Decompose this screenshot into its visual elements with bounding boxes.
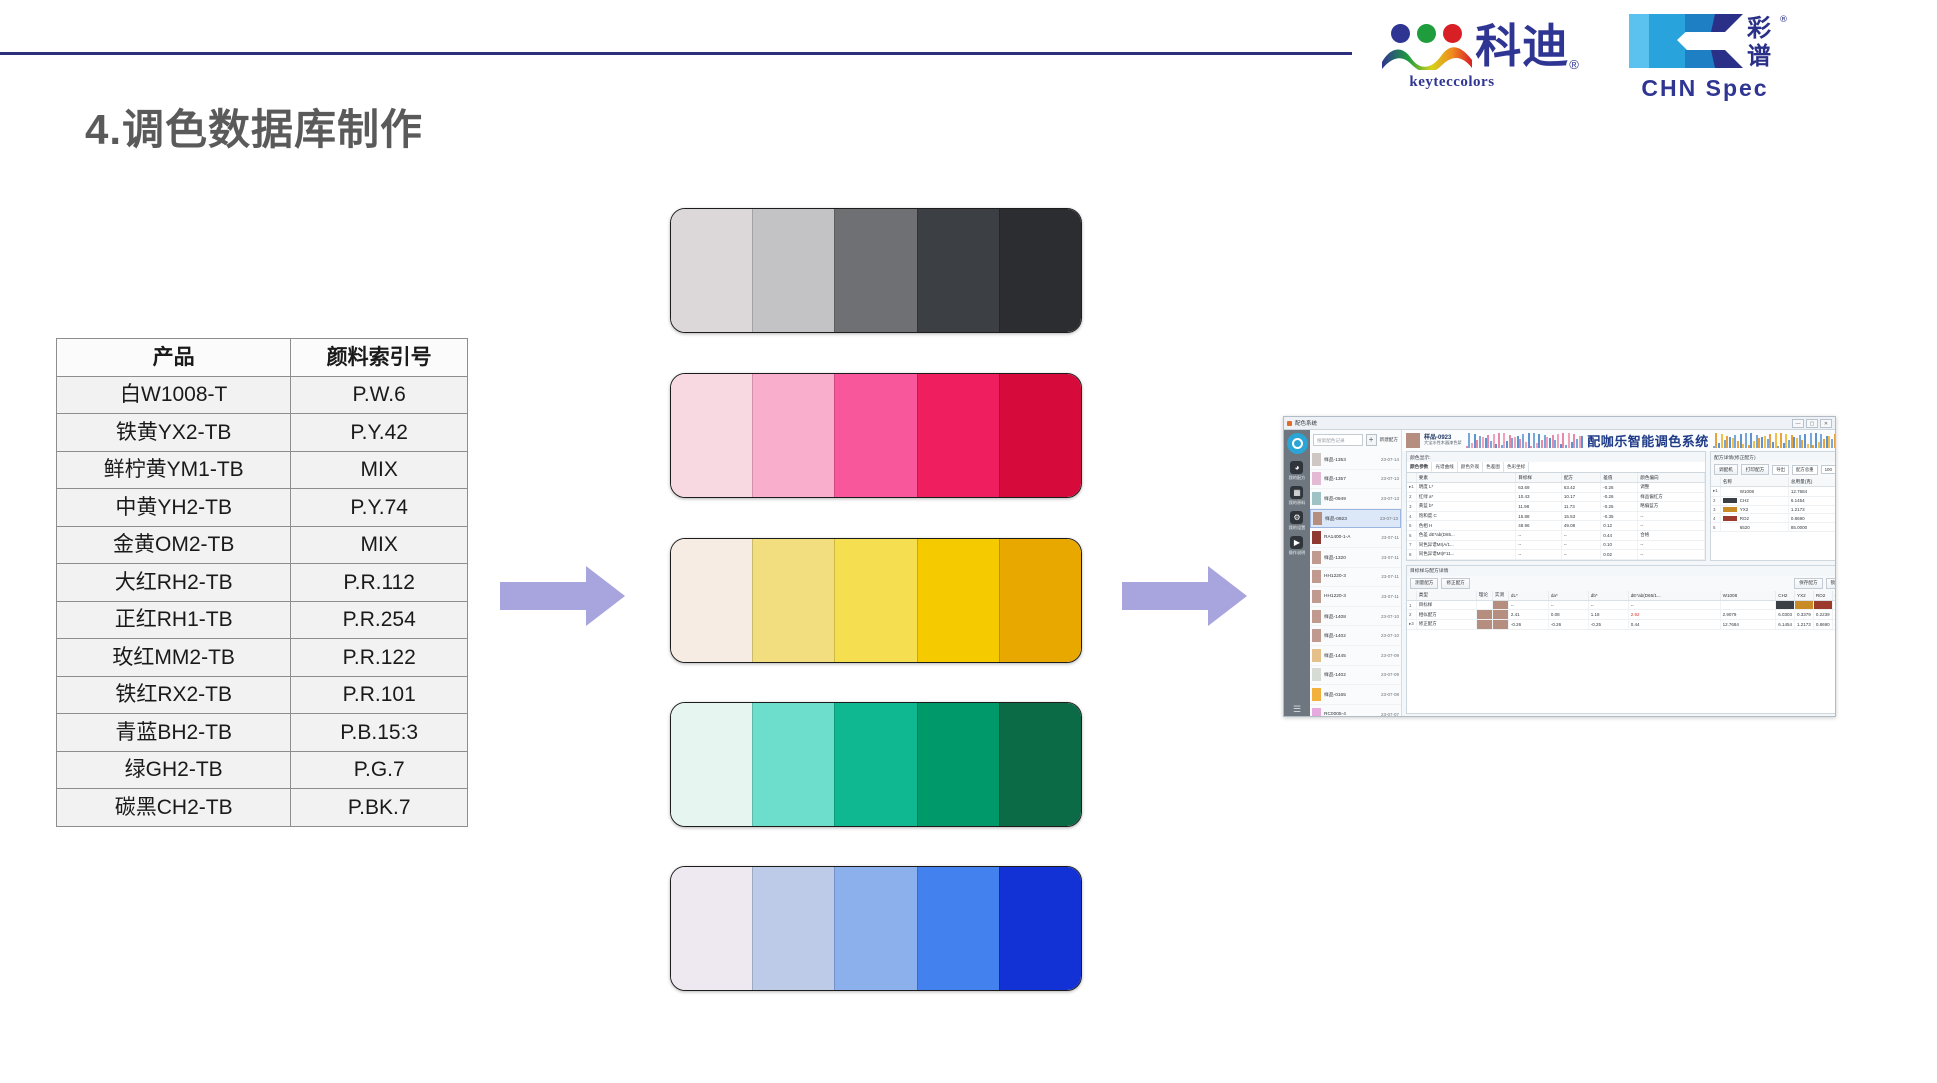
table-cell: 12.7684 — [1720, 619, 1776, 629]
table-cell: -- — [1508, 600, 1548, 610]
column-header: db* — [1588, 591, 1628, 601]
export-label[interactable]: 导出 — [1772, 465, 1789, 475]
table-row[interactable]: 4饱和度 C15.8815.53-0.35-- — [1407, 511, 1705, 521]
color-swatch — [917, 703, 999, 826]
tab-color-coords[interactable]: 色彩坐标 — [1504, 462, 1529, 472]
total-weight-select[interactable]: 配方总重 — [1792, 465, 1818, 475]
sample-color-chip — [1312, 551, 1321, 564]
column-header: 配方 — [1561, 473, 1600, 483]
list-item[interactable]: 样品-135723-07-13 — [1310, 470, 1401, 490]
table-cell: 12.7684 — [1788, 487, 1836, 497]
pigment-color-swatch — [1723, 489, 1737, 494]
sidebar-item-my-formulas[interactable]: ◕ 我的配方 — [1289, 461, 1306, 481]
color-swatch — [752, 374, 834, 497]
column-header: YX2 — [1795, 591, 1814, 601]
cell-index: MIX — [291, 526, 468, 564]
color-grid-body: ▸1明度 L*63.6963.42-0.26调整2红绿 a*10.4310.17… — [1407, 483, 1705, 560]
table-cell: 49.08 — [1561, 521, 1600, 531]
sample-color-chip — [1406, 433, 1420, 448]
tab-spectral-curve[interactable]: 光谱曲线 — [1432, 462, 1457, 472]
sample-color-chip — [1312, 492, 1321, 505]
table-row: 大红RH2-TBP.R.112 — [57, 564, 468, 602]
list-item[interactable]: HH1220-323-07-11 — [1310, 568, 1401, 588]
detail-toolbar[interactable]: 测量配方 修正配方 保存配方 锁定配方 删除配方 — [1407, 576, 1836, 591]
sample-name: 样品-1320 — [1324, 554, 1378, 561]
column-header: 6520 — [1832, 591, 1836, 601]
table-row: 正红RH1-TBP.R.254 — [57, 601, 468, 639]
yellow-plaque — [670, 538, 1082, 663]
list-item[interactable]: 样品-132023-07-11 — [1310, 548, 1401, 568]
table-row[interactable]: 2CH26.14546.1151 — [1711, 496, 1836, 505]
column-header — [1711, 477, 1720, 487]
table-cell: 明度 L* — [1416, 483, 1515, 493]
list-item[interactable]: 样品-140223-07-09 — [1310, 666, 1401, 686]
table-cell: 85.0000 — [1788, 523, 1836, 532]
table-cell: -0.26 — [1508, 619, 1548, 629]
table-cell: -- — [1516, 540, 1562, 550]
sample-date: 23-07-13 — [1380, 516, 1398, 521]
table-cell: -- — [1588, 600, 1628, 610]
window-controls[interactable]: — ▢ ✕ — [1792, 419, 1832, 428]
detail-grid: 类型理论实测dL*da*db*dE*ab(D65/1...W1008CH2YX2… — [1407, 591, 1836, 630]
cell-index: P.W.6 — [291, 376, 468, 414]
sample-name: 样品-0923 — [1325, 515, 1377, 522]
table-cell: 调整 — [1638, 483, 1705, 493]
table-cell — [1813, 600, 1832, 610]
sample-color-chip — [1313, 512, 1322, 525]
column-header: dL* — [1508, 591, 1548, 601]
correct-formula-button[interactable]: 修正配方 — [1441, 578, 1469, 589]
color-preview-cell — [1492, 600, 1508, 610]
color-swatch — [999, 539, 1081, 662]
table-cell: 0.08 — [1548, 610, 1588, 620]
sidebar-item-manual[interactable]: ▶ 操作说明 — [1289, 536, 1306, 556]
sample-date: 23-07-10 — [1381, 633, 1399, 638]
table-cell: 修正配方 — [1416, 619, 1476, 629]
formula-detail-panel: 配方详情(修正配方) 调配机 打印配方 导出 配方总重 100 4 最小称量值 … — [1710, 451, 1836, 561]
header-product: 产品 — [57, 339, 291, 377]
sample-date: 23-07-11 — [1381, 535, 1399, 540]
chnspec-mark-icon: 彩 谱 ® — [1619, 10, 1791, 72]
color-preview-cell — [1476, 619, 1492, 629]
color-swatch — [917, 374, 999, 497]
table-cell: 0.3379 — [1795, 610, 1814, 620]
sample-date: 23-07-14 — [1381, 457, 1399, 462]
table-cell: 11.98 — [1516, 502, 1562, 512]
table-cell: 相似配方 — [1416, 610, 1476, 620]
table-row: 中黄YH2-TBP.Y.74 — [57, 489, 468, 527]
sample-color-chip — [1312, 472, 1321, 485]
formula-grid: 名称总用量(克)新增量(克) ▸1W100812.76848.86042CH26… — [1711, 477, 1836, 532]
cell-index: MIX — [291, 451, 468, 489]
sample-name: HH1220-3 — [1324, 574, 1378, 579]
cell-index: P.BK.7 — [291, 789, 468, 827]
list-item[interactable]: RA1400-1-A23-07-11 — [1310, 528, 1401, 548]
table-cell: 63.42 — [1561, 483, 1600, 493]
column-header: dE*ab(D65/1... — [1628, 591, 1720, 601]
table-cell: 2.41 — [1508, 610, 1548, 620]
total-weight-value[interactable]: 100 — [1821, 465, 1836, 474]
search-input[interactable]: 搜索配色记录 — [1313, 434, 1363, 446]
chnspec-logo: 彩 谱 ® CHN Spec — [1610, 10, 1800, 102]
table-cell: 饱和度 C — [1416, 511, 1515, 521]
column-header — [1407, 591, 1416, 601]
print-formula-button[interactable]: 打印配方 — [1741, 464, 1769, 475]
maximize-button[interactable]: ▢ — [1806, 419, 1818, 428]
list-item[interactable]: 样品-094923-07-13 — [1310, 489, 1401, 509]
sidebar-item-my-materials[interactable]: ▦ 我的原料 — [1289, 486, 1306, 506]
cell-product: 金黄OM2-TB — [57, 526, 291, 564]
keytec-name-cn: 科迪 — [1475, 24, 1569, 70]
lock-formula-button[interactable]: 锁定配方 — [1826, 578, 1836, 589]
sample-name: 样品-1408 — [1324, 613, 1378, 620]
cell-index: P.R.101 — [291, 676, 468, 714]
table-row: 青蓝BH2-TBP.B.15:3 — [57, 714, 468, 752]
table-cell: 2.9079 — [1720, 610, 1776, 620]
table-row[interactable]: 8同色异谱MI(F11...----0.02-- — [1407, 550, 1705, 560]
table-header-row: 产品 颜料索引号 — [57, 339, 468, 377]
table-cell: 同色异谱MI(A/1... — [1416, 540, 1515, 550]
manual-icon: ▶ — [1290, 536, 1303, 549]
add-icon[interactable]: + — [1366, 434, 1377, 446]
table-cell: 1.18 — [1588, 610, 1628, 620]
color-swatch — [999, 209, 1081, 332]
sample-date: 23-07-10 — [1381, 614, 1399, 619]
tab-color-diff-chart[interactable]: 色差图 — [1483, 462, 1504, 472]
sidebar-label: 我的原料 — [1289, 500, 1306, 506]
table-cell: CH2 — [1720, 496, 1788, 505]
table-cell: 6.1454 — [1788, 496, 1836, 505]
table-cell: -0.25 — [1601, 502, 1638, 512]
color-params-grid: 要素目标样配方差值颜色偏向 ▸1明度 L*63.6963.42-0.26调整2红… — [1407, 473, 1705, 560]
table-cell: 1.2173 — [1795, 619, 1814, 629]
table-row[interactable]: 2红绿 a*10.4310.17-0.26样品偏红方 — [1407, 492, 1705, 502]
cell-product: 正红RH1-TB — [57, 601, 291, 639]
table-cell: 0.44 — [1601, 530, 1638, 540]
column-header: 目标样 — [1516, 473, 1562, 483]
sample-date: 23-07-07 — [1381, 712, 1399, 717]
chnspec-name-en: CHN Spec — [1641, 75, 1768, 102]
table-cell: -0.26 — [1601, 492, 1638, 502]
sample-list-toolbar: 搜索配色记录 + 新建配方 — [1310, 430, 1401, 450]
app-brand-title: 配咖乐智能调色系统 — [1587, 431, 1709, 450]
cell-product: 青蓝BH2-TB — [57, 714, 291, 752]
sample-name: 样品-1445 — [1324, 652, 1378, 659]
list-item[interactable]: 样品-144523-07-09 — [1310, 646, 1401, 666]
menu-icon[interactable]: ☰ — [1293, 705, 1301, 714]
table-row[interactable]: ▸3修正配方-0.26-0.26-0.250.4412.76846.14541.… — [1407, 619, 1836, 629]
sidebar-label: 我的设置 — [1289, 525, 1306, 531]
table-cell: 合格 — [1638, 530, 1705, 540]
cell-index: P.R.112 — [291, 564, 468, 602]
dispenser-button[interactable]: 调配机 — [1714, 464, 1738, 475]
tab-color-params[interactable]: 颜色参数 — [1407, 462, 1432, 472]
tab-color-appearance[interactable]: 颜色外观 — [1458, 462, 1483, 472]
sidebar-item-my-settings[interactable]: ⚙ 我的设置 — [1289, 511, 1306, 531]
detail-toolbar-right[interactable]: 保存配方 锁定配方 删除配方 — [1794, 578, 1836, 589]
table-cell: -- — [1638, 550, 1705, 560]
cell-index: P.Y.74 — [291, 489, 468, 527]
spectrum-bars-left-icon — [1466, 433, 1584, 448]
app-main: 样品-0923 大宝水性木器漆色浆 配咖乐智能调色系统 • • • 颜色显示: … — [1402, 430, 1836, 717]
detail-grid-header: 类型理论实测dL*da*db*dE*ab(D65/1...W1008CH2YX2… — [1407, 591, 1836, 601]
table-cell: 6.0303 — [1776, 610, 1795, 620]
sample-name: 样品-1357 — [1324, 475, 1378, 482]
table-cell: -- — [1561, 530, 1600, 540]
table-row[interactable]: 1目标样-------- — [1407, 600, 1836, 610]
table-cell: 0.12 — [1601, 521, 1638, 531]
cell-product: 碳黑CH2-TB — [57, 789, 291, 827]
blue-plaque — [670, 866, 1082, 991]
column-header: RO2 — [1813, 591, 1832, 601]
sample-name: RA1400-1-A — [1324, 535, 1378, 540]
app-body: ◕ 我的配方 ▦ 我的原料 ⚙ 我的设置 ▶ 操作说明 ☰ — [1284, 430, 1835, 717]
table-cell: -- — [1561, 540, 1600, 550]
slide-root: 科迪 ® keyteccolors 彩 谱 ® CHN Spec — [0, 0, 1937, 1083]
table-cell — [1795, 600, 1814, 610]
sidebar-label: 我的配方 — [1289, 475, 1306, 481]
list-item[interactable]: 样品-140223-07-10 — [1310, 626, 1401, 646]
table-row[interactable]: 3黄蓝 b*11.9811.73-0.25略偏蓝方 — [1407, 502, 1705, 512]
close-button[interactable]: ✕ — [1820, 419, 1832, 428]
table-cell: 2 — [1711, 496, 1720, 505]
detail-grid-body: 1目标样--------2相似配方2.410.081.182.922.90796… — [1407, 600, 1836, 629]
table-cell: 15.53 — [1561, 511, 1600, 521]
table-cell: -- — [1561, 550, 1600, 560]
table-cell: -0.26 — [1548, 619, 1588, 629]
svg-text:彩: 彩 — [1746, 14, 1771, 42]
color-swatch — [834, 539, 916, 662]
table-cell: 0.8690 — [1813, 619, 1832, 629]
sample-color-chip — [1312, 688, 1321, 701]
pink-red-plaque — [670, 373, 1082, 498]
color-swatch — [752, 703, 834, 826]
sample-name: 样品-1402 — [1324, 671, 1378, 678]
keytec-registered-icon: ® — [1569, 57, 1579, 72]
app-titlebar: 配色系统 — ▢ ✕ — [1284, 417, 1835, 430]
cell-product: 玫红MM2-TB — [57, 639, 291, 677]
color-preview-cell — [1492, 619, 1508, 629]
list-item[interactable]: 样品-140823-07-10 — [1310, 607, 1401, 627]
sample-color-chip — [1312, 531, 1321, 544]
column-header: 类型 — [1416, 591, 1476, 601]
table-cell: 同色异谱MI(F11... — [1416, 550, 1515, 560]
table-row: 碳黑CH2-TBP.BK.7 — [57, 789, 468, 827]
column-header: 颜色偏向 — [1638, 473, 1705, 483]
sample-list-panel: 搜索配色记录 + 新建配方 样品-135323-07-14样品-135723-0… — [1310, 430, 1402, 717]
app-logo-icon — [1287, 421, 1292, 426]
sample-color-chip — [1312, 570, 1321, 583]
color-swatch — [834, 867, 916, 990]
list-item[interactable]: 样品-135323-07-14 — [1310, 450, 1401, 470]
cell-product: 铁黄YX2-TB — [57, 414, 291, 452]
color-swatch — [752, 209, 834, 332]
table-cell: 48.96 — [1516, 521, 1562, 531]
cell-product: 绿GH2-TB — [57, 751, 291, 789]
sample-name: 样品-0165 — [1324, 691, 1378, 698]
sample-color-chip — [1312, 453, 1321, 466]
table-row[interactable]: ▸1明度 L*63.6963.42-0.26调整 — [1407, 483, 1705, 493]
sample-date: 23-07-11 — [1381, 594, 1399, 599]
color-swatch — [834, 209, 916, 332]
sample-date: 23-07-11 — [1381, 574, 1399, 579]
sample-name: HH1220-3 — [1324, 594, 1378, 599]
palette-icon: ◕ — [1290, 461, 1303, 474]
svg-text:谱: 谱 — [1747, 42, 1771, 70]
table-cell: -0.25 — [1588, 619, 1628, 629]
table-cell: 2.92 — [1628, 610, 1720, 620]
table-cell: 6 — [1407, 530, 1416, 540]
pigment-color-swatch — [1723, 516, 1737, 521]
formula-grid-header: 名称总用量(克)新增量(克) — [1711, 477, 1836, 487]
app-window-title: 配色系统 — [1295, 419, 1317, 427]
table-row[interactable]: 2相似配方2.410.081.182.922.90796.03030.33790… — [1407, 610, 1836, 620]
pigment-color-swatch — [1723, 498, 1737, 503]
pigment-color-swatch — [1723, 507, 1737, 512]
svg-text:®: ® — [1779, 15, 1788, 25]
table-row[interactable]: 4RO20.86900.6451 — [1711, 514, 1836, 523]
table-cell: 85.0000 — [1832, 619, 1836, 629]
table-cell: 0.8690 — [1788, 514, 1836, 523]
table-cell: 0.02 — [1601, 550, 1638, 560]
sample-list[interactable]: 样品-135323-07-14样品-135723-07-13样品-094923-… — [1310, 450, 1401, 717]
table-row[interactable]: 5色相 H48.9649.080.12-- — [1407, 521, 1705, 531]
measure-formula-button[interactable]: 测量配方 — [1410, 578, 1438, 589]
sample-color-chip — [1312, 708, 1321, 717]
table-cell: RO2 — [1720, 514, 1788, 523]
table-cell: 63.69 — [1516, 483, 1562, 493]
color-swatch — [671, 867, 752, 990]
table-cell: 0.44 — [1628, 619, 1720, 629]
table-row: 玫红MM2-TBP.R.122 — [57, 639, 468, 677]
table-cell: 0.2239 — [1813, 610, 1832, 620]
table-cell: 1 — [1407, 600, 1416, 610]
table-cell: 3 — [1407, 502, 1416, 512]
table-cell: 10.43 — [1516, 492, 1562, 502]
color-swatch — [999, 703, 1081, 826]
column-header: da* — [1548, 591, 1588, 601]
table-cell: 2 — [1407, 610, 1416, 620]
table-row: 绿GH2-TBP.G.7 — [57, 751, 468, 789]
table-cell: 4 — [1407, 511, 1416, 521]
detail-panel-caption: 目标样与配方详情 — [1407, 566, 1836, 576]
table-cell: ▸1 — [1711, 487, 1720, 497]
color-panel-tabs[interactable]: 颜色参数 光谱曲线 颜色外观 色差图 色彩坐标 — [1407, 462, 1705, 473]
color-swatch — [917, 867, 999, 990]
app-brand-icon — [1287, 433, 1308, 454]
app-sidebar-rail: ◕ 我的配方 ▦ 我的原料 ⚙ 我的设置 ▶ 操作说明 ☰ — [1284, 430, 1310, 717]
color-swatch — [999, 867, 1081, 990]
table-cell: -- — [1548, 600, 1588, 610]
table-cell: 略偏蓝方 — [1638, 502, 1705, 512]
keytec-mark-icon — [1379, 22, 1475, 72]
color-swatch — [671, 209, 752, 332]
table-cell: 6.1454 — [1776, 619, 1795, 629]
list-item[interactable]: 样品-092323-07-13 — [1310, 509, 1401, 529]
cell-product: 大红RH2-TB — [57, 564, 291, 602]
color-preview-cell — [1476, 600, 1492, 610]
table-row[interactable]: 3YX21.21730.8794 — [1711, 505, 1836, 514]
color-swatch — [671, 703, 752, 826]
spectrum-bars-right-icon — [1713, 433, 1836, 448]
color-matching-app-window[interactable]: 配色系统 — ▢ ✕ ◕ 我的配方 ▦ 我的原料 ⚙ — [1283, 416, 1836, 717]
table-cell: 10.17 — [1561, 492, 1600, 502]
table-row[interactable]: ▸1W100812.76848.8604 — [1711, 487, 1836, 497]
color-swatch — [834, 374, 916, 497]
minimize-button[interactable]: — — [1792, 419, 1804, 428]
sample-date: 23-07-13 — [1381, 496, 1399, 501]
settings-icon: ⚙ — [1290, 511, 1303, 524]
sample-color-chip — [1312, 649, 1321, 662]
table-cell: 7 — [1407, 540, 1416, 550]
new-formula-button[interactable]: 新建配方 — [1380, 437, 1398, 443]
color-swatch — [917, 539, 999, 662]
color-swatch — [917, 209, 999, 332]
table-row: 铁红RX2-TBP.R.101 — [57, 676, 468, 714]
formula-grid-body: ▸1W100812.76848.86042CH26.14546.11513YX2… — [1711, 487, 1836, 532]
sample-date: 23-07-08 — [1381, 692, 1399, 697]
green-plaque — [670, 702, 1082, 827]
main-header: 样品-0923 大宝水性木器漆色浆 配咖乐智能调色系统 • • • — [1402, 430, 1836, 451]
sample-name: 样品-1402 — [1324, 632, 1378, 639]
formula-panel-caption: 配方详情(修正配方) — [1711, 452, 1836, 462]
formula-toolbar[interactable]: 调配机 打印配方 导出 配方总重 100 4 最小称量值 — [1711, 462, 1836, 477]
table-cell: 15.88 — [1516, 511, 1562, 521]
table-cell: W1008 — [1720, 487, 1788, 497]
pigment-index-table: 产品 颜料索引号 白W1008-TP.W.6 铁黄YX2-TBP.Y.42 鲜柠… — [56, 338, 468, 827]
color-panel-caption: 颜色显示: — [1407, 452, 1705, 462]
color-display-panel: 颜色显示: 颜色参数 光谱曲线 颜色外观 色差图 色彩坐标 要素目标样配方差值颜… — [1406, 451, 1706, 561]
column-header: 理论 — [1476, 591, 1492, 601]
keyteccolors-logo: 科迪 ® keyteccolors — [1374, 22, 1584, 91]
logo-block: 科迪 ® keyteccolors 彩 谱 ® CHN Spec — [1352, 0, 1937, 112]
table-row[interactable]: 6色差 dE*ab(D65...----0.44合格 — [1407, 530, 1705, 540]
list-item[interactable]: HH1220-323-07-11 — [1310, 587, 1401, 607]
table-cell: -- — [1516, 530, 1562, 540]
table-cell: -- — [1638, 521, 1705, 531]
page-title: 4.调色数据库制作 — [85, 96, 423, 157]
cell-product: 中黄YH2-TB — [57, 489, 291, 527]
table-row: 金黄OM2-TBMIX — [57, 526, 468, 564]
table-row[interactable]: 7同色异谱MI(A/1...----0.10-- — [1407, 540, 1705, 550]
color-swatch — [671, 539, 752, 662]
flow-arrow-2 — [1122, 566, 1247, 626]
table-cell: YX2 — [1720, 505, 1788, 514]
table-cell: 3 — [1711, 505, 1720, 514]
column-header: 差值 — [1601, 473, 1638, 483]
table-cell: 8 — [1407, 550, 1416, 560]
color-swatch — [671, 374, 752, 497]
column-header — [1407, 473, 1416, 483]
table-cell: 0.10 — [1601, 540, 1638, 550]
pigment-table-body: 白W1008-TP.W.6 铁黄YX2-TBP.Y.42 鲜柠黄YM1-TBMI… — [57, 376, 468, 826]
table-row: 白W1008-TP.W.6 — [57, 376, 468, 414]
list-item[interactable]: RC0005-423-07-07 — [1310, 705, 1401, 717]
table-cell: 1.2173 — [1788, 505, 1836, 514]
sample-name: RC0005-4 — [1324, 712, 1378, 717]
column-header: CH2 — [1776, 591, 1795, 601]
table-cell: ▸3 — [1407, 619, 1416, 629]
table-cell: -0.26 — [1601, 483, 1638, 493]
table-row[interactable]: 5652085.000059.5000 — [1711, 523, 1836, 532]
cell-product: 铁红RX2-TB — [57, 676, 291, 714]
save-formula-button[interactable]: 保存配方 — [1794, 578, 1822, 589]
sample-name: 样品-0949 — [1324, 495, 1378, 502]
table-cell: 2 — [1407, 492, 1416, 502]
cell-product: 鲜柠黄YM1-TB — [57, 451, 291, 489]
table-cell: -- — [1638, 540, 1705, 550]
list-item[interactable]: 样品-016523-07-08 — [1310, 685, 1401, 705]
